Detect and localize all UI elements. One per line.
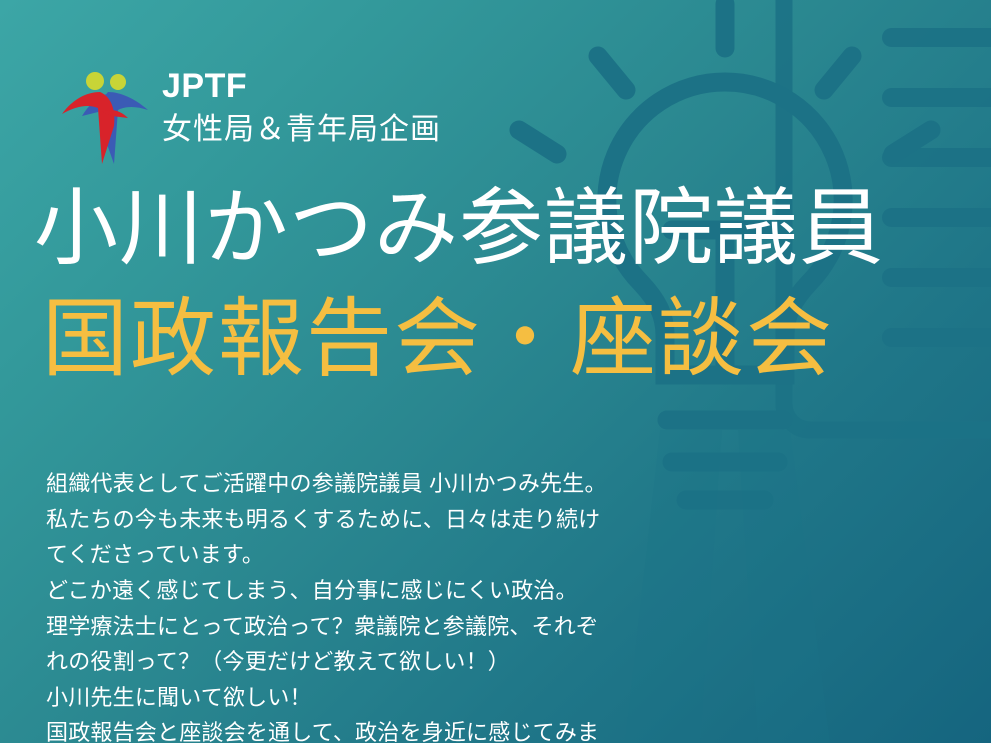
- body-line: どこか遠く感じてしまう、自分事に感じにくい政治。: [46, 573, 706, 609]
- body-line: 組織代表としてご活躍中の参議院議員 小川かつみ先生。: [46, 466, 706, 502]
- page-title: 小川かつみ参議院議員: [34, 186, 964, 270]
- brand-block: JPTF 女性局＆青年局企画: [62, 66, 441, 164]
- body-copy: 組織代表としてご活躍中の参議院議員 小川かつみ先生。 私たちの今も未来も明るくす…: [46, 466, 706, 743]
- body-line: てくださっています。: [46, 537, 706, 573]
- body-line: 私たちの今も未来も明るくするために、日々は走り続け: [46, 502, 706, 538]
- jptf-logo-icon: [62, 68, 148, 164]
- body-line: 理学療法士にとって政治って？衆議院と参議院、それぞ: [46, 609, 706, 645]
- poster-root: JPTF 女性局＆青年局企画 小川かつみ参議院議員 国政報告会・座談会 組織代表…: [0, 0, 991, 743]
- body-line: 小川先生に聞いて欲しい！: [46, 680, 706, 716]
- page-subtitle: 国政報告会・座談会: [42, 296, 972, 382]
- brand-subtitle: 女性局＆青年局企画: [162, 111, 441, 149]
- body-line: れの役割って？（今更だけど教えて欲しい！）: [46, 644, 706, 680]
- brand-name: JPTF: [162, 68, 441, 105]
- body-line: 国政報告会と座談会を通して、政治を身近に感じてみま: [46, 715, 706, 743]
